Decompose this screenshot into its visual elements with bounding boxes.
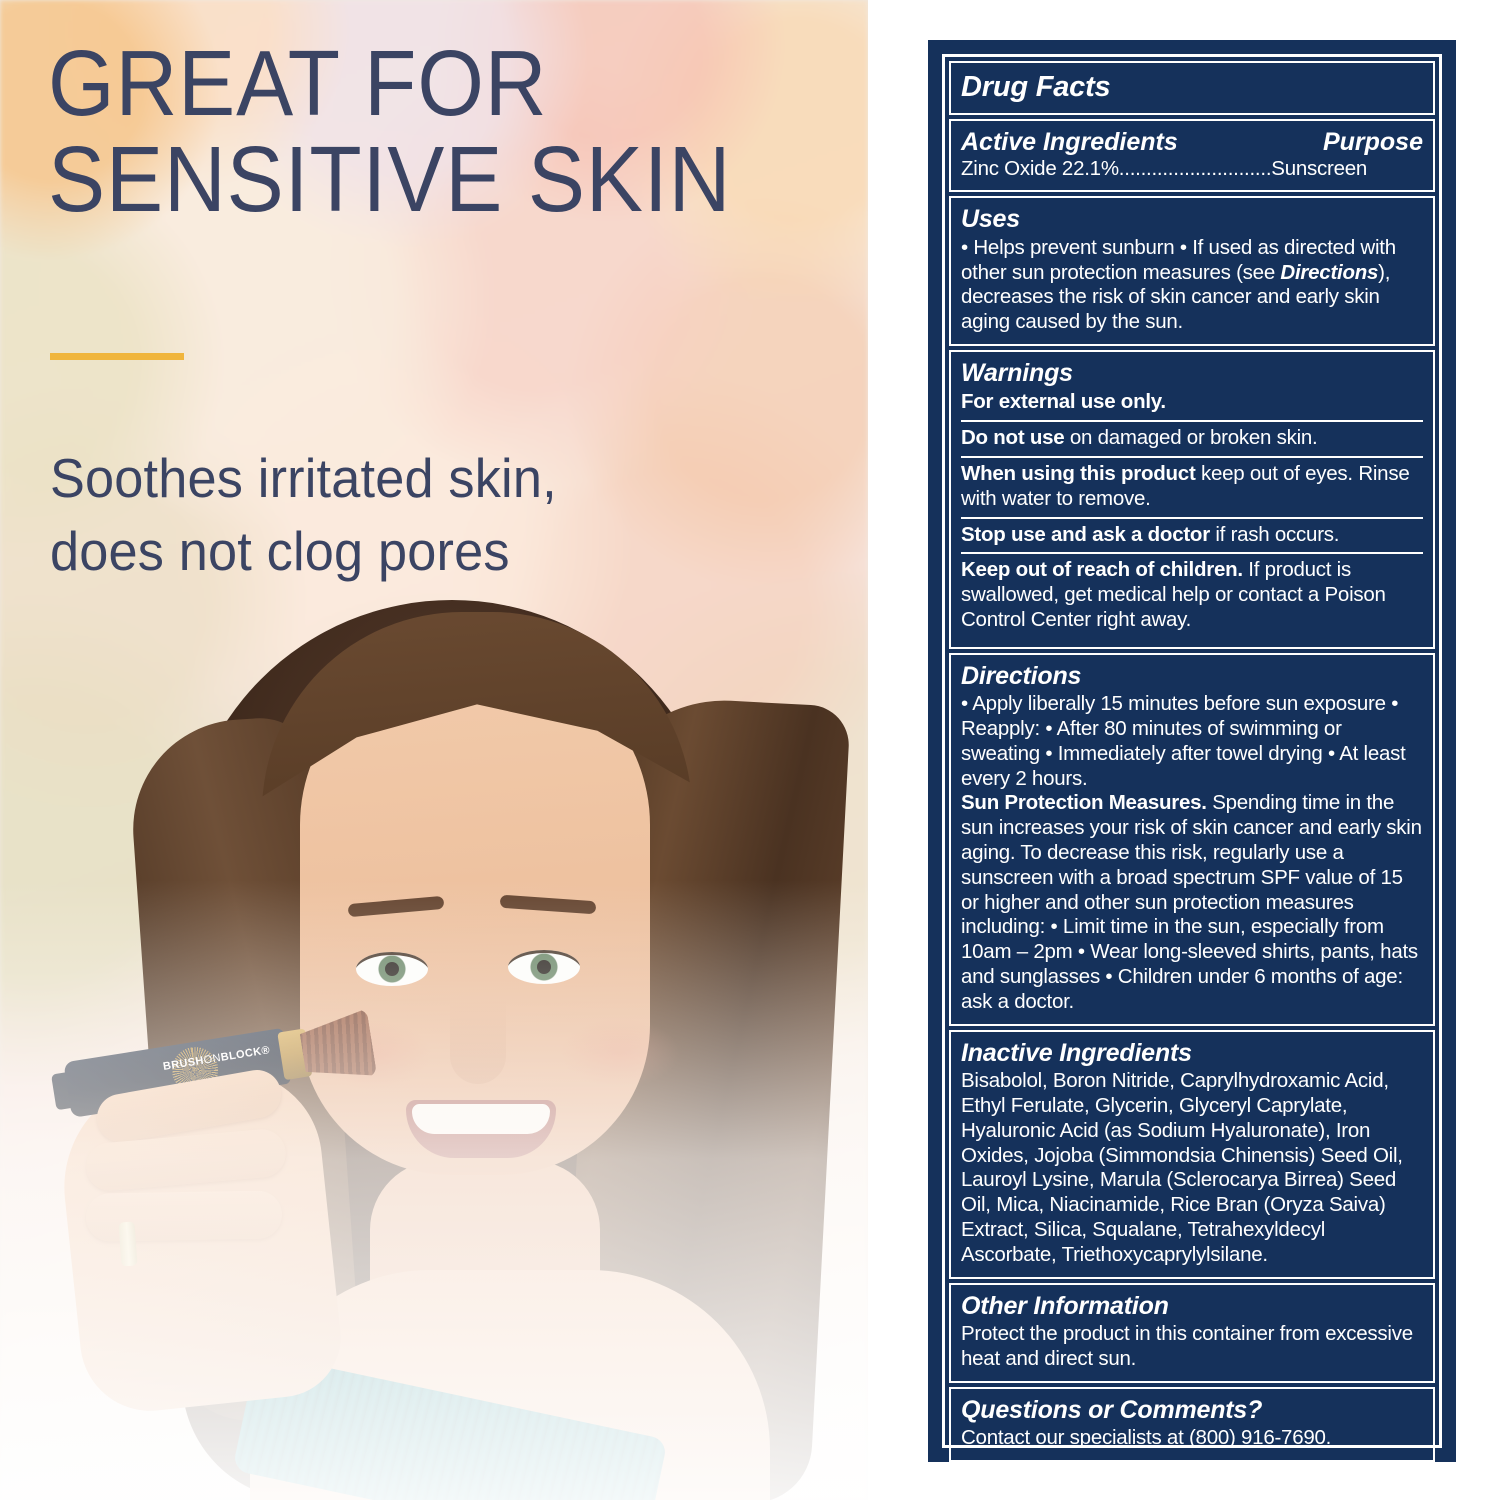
uses-text: • Helps prevent sunburn • If used as dir… — [961, 236, 1423, 335]
inactive-ingredients-text: Bisabolol, Boron Nitride, Caprylhydroxam… — [961, 1069, 1423, 1267]
photo-bottom-fade — [0, 880, 868, 1500]
warning-item: Stop use and ask a doctor if rash occurs… — [961, 517, 1423, 553]
section-uses: Uses • Helps prevent sunburn • If used a… — [949, 196, 1435, 346]
drug-facts-inner-border: Drug Facts Active Ingredients Purpose Zi… — [942, 54, 1442, 1448]
warning-rest: if rash occurs. — [1210, 523, 1339, 546]
gold-divider-rule — [50, 353, 184, 360]
section-inactive-ingredients: Inactive Ingredients Bisabolol, Boron Ni… — [949, 1030, 1435, 1279]
active-ingredients-label: Active Ingredients — [961, 128, 1178, 157]
active-ingredient-line: Zinc Oxide 22.1%........................… — [961, 157, 1423, 181]
warnings-label: Warnings — [961, 359, 1423, 389]
uses-label: Uses — [961, 205, 1423, 235]
section-drug-facts-title: Drug Facts — [949, 61, 1435, 115]
purpose-label: Purpose — [1323, 128, 1423, 157]
directions-apply-text: • Apply liberally 15 minutes before sun … — [961, 692, 1423, 791]
section-active-ingredients: Active Ingredients Purpose Zinc Oxide 22… — [949, 119, 1435, 192]
ad-page: BRUSHONBLOCK® GREAT FOR SENSITIVE SKIN S… — [0, 0, 1500, 1500]
sun-protection-measures-bold: Sun Protection Measures. — [961, 791, 1207, 814]
section-directions: Directions • Apply liberally 15 minutes … — [949, 653, 1435, 1026]
other-information-label: Other Information — [961, 1292, 1423, 1322]
inactive-ingredients-label: Inactive Ingredients — [961, 1039, 1423, 1069]
product-lifestyle-photo: BRUSHONBLOCK® GREAT FOR SENSITIVE SKIN S… — [0, 0, 868, 1500]
sun-protection-measures-text: Spending time in the sun increases your … — [961, 791, 1422, 1012]
other-information-text: Protect the product in this container fr… — [961, 1322, 1423, 1372]
warning-item: Keep out of reach of children. If produc… — [961, 552, 1423, 637]
warning-bold: Stop use and ask a doctor — [961, 523, 1210, 546]
drug-facts-panel: Drug Facts Active Ingredients Purpose Zi… — [928, 40, 1456, 1462]
directions-measures: Sun Protection Measures. Spending time i… — [961, 791, 1423, 1014]
section-warnings: Warnings For external use only. Do not u… — [949, 350, 1435, 649]
warning-bold: Do not use — [961, 426, 1064, 449]
warning-item: When using this product keep out of eyes… — [961, 456, 1423, 517]
warning-item: Do not use on damaged or broken skin. — [961, 420, 1423, 456]
uses-directions-emphasis: Directions — [1280, 261, 1378, 284]
page-subheadline: Soothes irritated skin, does not clog po… — [50, 442, 753, 587]
warning-bold: When using this product — [961, 462, 1196, 485]
active-ingredients-header-row: Active Ingredients Purpose — [961, 128, 1423, 157]
questions-label: Questions or Comments? — [961, 1396, 1423, 1426]
page-headline: GREAT FOR SENSITIVE SKIN — [48, 36, 784, 228]
warning-bold: Keep out of reach of children. — [961, 558, 1243, 581]
warning-bold: For external use only. — [961, 390, 1166, 413]
section-questions: Questions or Comments? Contact our speci… — [949, 1387, 1435, 1462]
warning-rest: on damaged or broken skin. — [1064, 426, 1317, 449]
drug-facts-title: Drug Facts — [961, 70, 1423, 104]
section-other-information: Other Information Protect the product in… — [949, 1283, 1435, 1383]
warning-item: For external use only. — [961, 388, 1423, 420]
directions-label: Directions — [961, 662, 1423, 692]
questions-text: Contact our specialists at (800) 916-769… — [961, 1426, 1423, 1451]
